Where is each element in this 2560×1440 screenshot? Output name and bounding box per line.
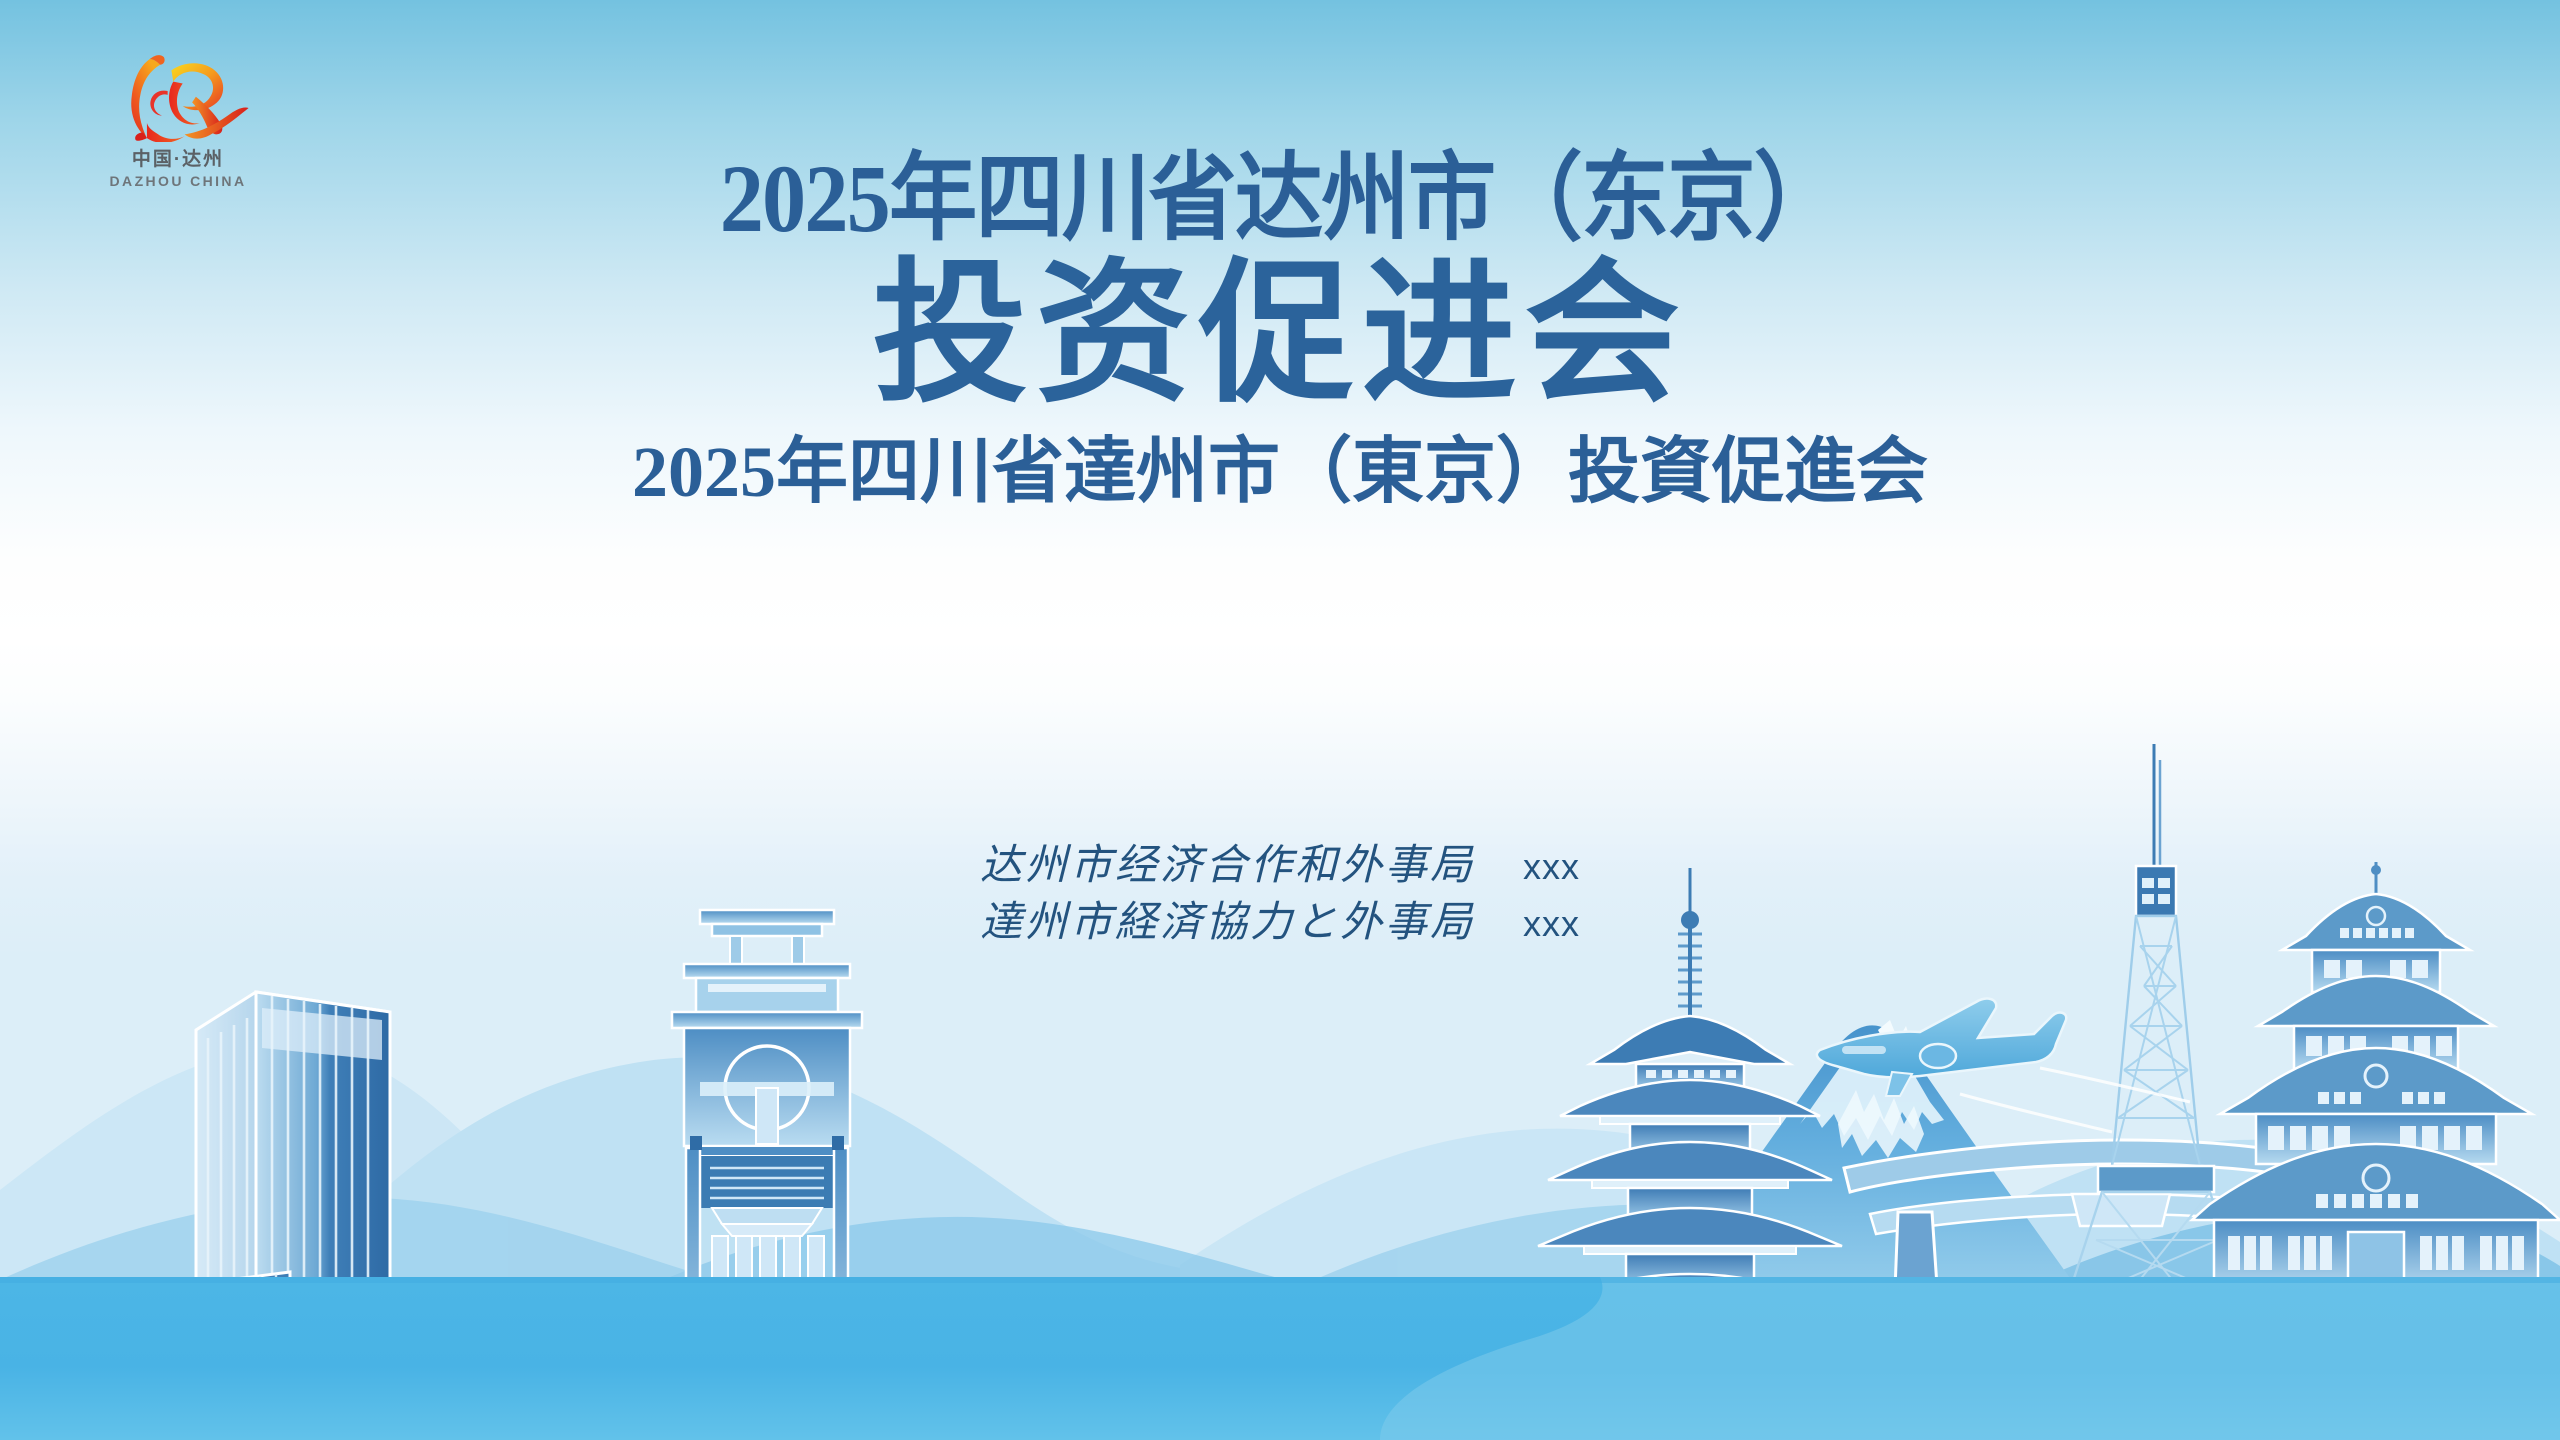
water-band [0, 1277, 2560, 1440]
title-japanese: 2025年四川省達州市（東京）投資促進会 [0, 435, 2560, 511]
wave-shape [1380, 1277, 2560, 1440]
title-main-headline: 投资促进会 [0, 258, 2560, 413]
organizer-row: 达州市经济合作和外事局xxx [0, 838, 2560, 895]
organizer-row: 達州市経済協力と外事局xxx [0, 895, 2560, 952]
organizer-name-cn: 达州市经济合作和外事局 [980, 843, 1475, 889]
organizer-value-cn: xxx [1523, 846, 1580, 887]
title-block: 2025年四川省达州市（东京） 投资促进会 2025年四川省達州市（東京）投資促… [0, 0, 2560, 511]
organizer-name-jp: 達州市経済協力と外事局 [980, 900, 1475, 946]
organizer-block: 达州市经济合作和外事局xxx 達州市経済協力と外事局xxx [0, 838, 2560, 952]
title-line-1: 2025年四川省达州市（东京） [102, 150, 2457, 248]
organizer-value-jp: xxx [1523, 903, 1580, 944]
event-banner: 中国·达州 DAZHOU CHINA 2025年四川省达州市（东京） 投资促进会… [0, 0, 2560, 1440]
